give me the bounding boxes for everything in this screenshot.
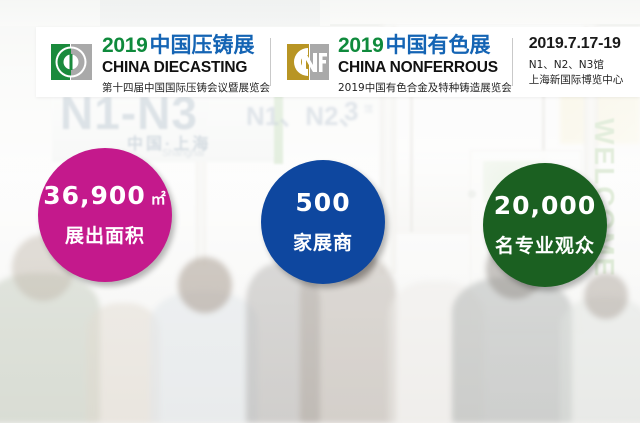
promo-banner: N1-N3 中国·上海 Shanghai N1、N2、 3 馆 WELCOME xyxy=(0,0,640,423)
event-dates: 2019.7.17-19 xyxy=(529,35,621,53)
stat-exhibitors-value: 500 xyxy=(295,188,350,217)
event-header-panel: 2019 中国压铸展 CHINA DIECASTING 第十四届中国国际压铸会议… xyxy=(36,27,640,97)
stat-area-value: 36,900 xyxy=(43,181,145,210)
china-diecasting-logo-icon xyxy=(50,42,94,82)
nonferrous-year: 2019 xyxy=(338,34,384,58)
nonferrous-subtitle: 2019中国有色合金及特种铸造展览会 xyxy=(338,80,512,95)
nonferrous-title-row: 2019 中国有色展 xyxy=(338,29,512,59)
stat-circle-visitors: 20,000 名专业观众 xyxy=(483,163,607,287)
diecasting-title-row: 2019 中国压铸展 xyxy=(102,29,270,59)
stat-visitors-value: 20,000 xyxy=(494,191,596,220)
stat-visitors-value-row: 20,000 xyxy=(494,193,596,218)
nonferrous-block: 2019 中国有色展 CHINA NONFERROUS 2019中国有色合金及特… xyxy=(271,27,512,97)
stat-area-label: 展出面积 xyxy=(65,221,145,248)
nonferrous-title-en: CHINA NONFERROUS xyxy=(338,59,512,77)
stat-exhibitors-label: 家展商 xyxy=(293,228,353,255)
stat-area-value-row: 36,900㎡ xyxy=(43,183,167,208)
diecasting-title-en: CHINA DIECASTING xyxy=(102,59,270,77)
stat-area-unit: ㎡ xyxy=(151,190,167,208)
diecasting-subtitle: 第十四届中国国际压铸会议暨展览会 xyxy=(102,80,270,95)
event-halls: N1、N2、N3馆 xyxy=(529,58,604,73)
nonferrous-titles: 2019 中国有色展 CHINA NONFERROUS 2019中国有色合金及特… xyxy=(338,29,512,95)
stat-circle-exhibitors: 500 家展商 xyxy=(261,160,385,284)
diecasting-year: 2019 xyxy=(102,34,148,58)
diecasting-title-cn: 中国压铸展 xyxy=(150,29,255,59)
china-nonferrous-logo-icon xyxy=(286,42,330,82)
stat-visitors-label: 名专业观众 xyxy=(495,231,595,258)
stat-circle-area: 36,900㎡ 展出面积 xyxy=(38,148,172,282)
nonferrous-title-cn: 中国有色展 xyxy=(386,29,491,59)
diecasting-block: 2019 中国压铸展 CHINA DIECASTING 第十四届中国国际压铸会议… xyxy=(36,27,270,97)
diecasting-titles: 2019 中国压铸展 CHINA DIECASTING 第十四届中国国际压铸会议… xyxy=(102,29,270,95)
stat-exhibitors-value-row: 500 xyxy=(295,190,350,215)
event-info-block: 2019.7.17-19 N1、N2、N3馆 上海新国际博览中心 xyxy=(513,27,624,97)
event-venue: 上海新国际博览中心 xyxy=(529,73,624,88)
